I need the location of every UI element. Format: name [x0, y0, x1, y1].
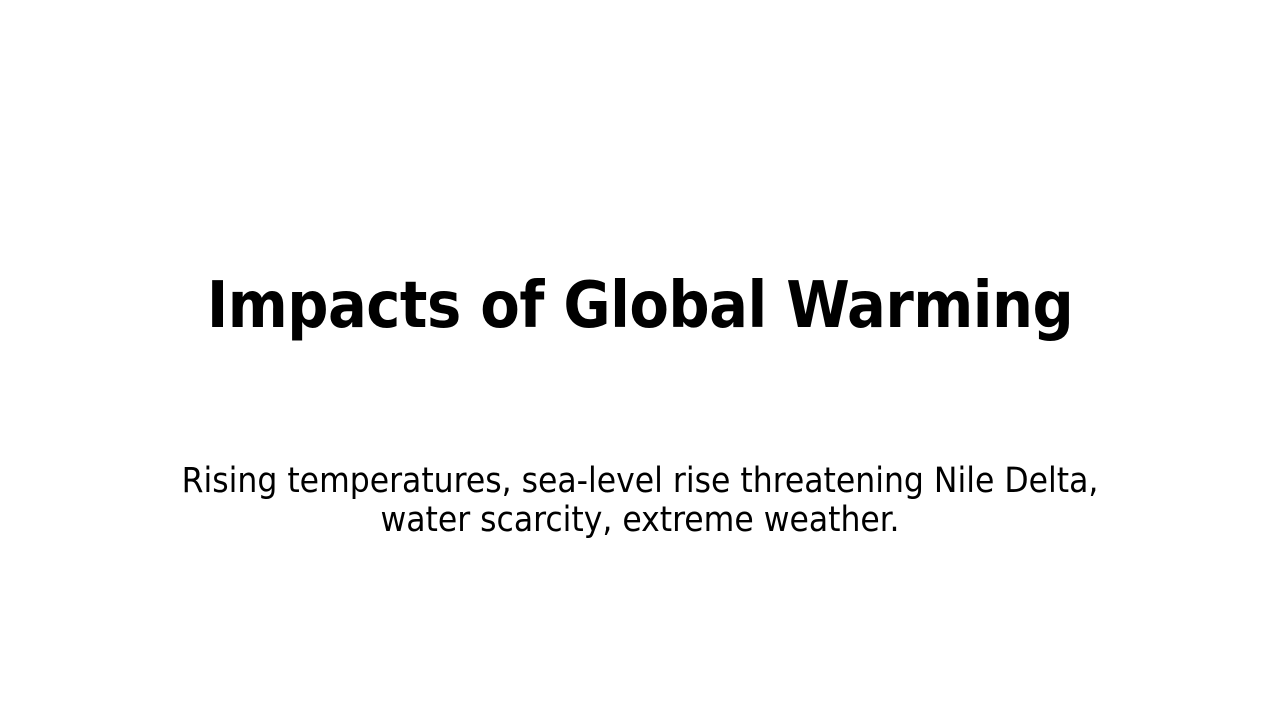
subtitle-placeholder: Rising temperatures, sea-level rise thre…: [160, 462, 1120, 540]
page-title: Impacts of Global Warming: [64, 268, 1216, 344]
slide-content-area: Impacts of Global Warming Rising tempera…: [0, 0, 1280, 720]
slide-subtitle: Rising temperatures, sea-level rise thre…: [160, 462, 1120, 540]
title-placeholder: Impacts of Global Warming: [64, 268, 1216, 344]
presentation-slide: Impacts of Global Warming Rising tempera…: [0, 0, 1280, 720]
